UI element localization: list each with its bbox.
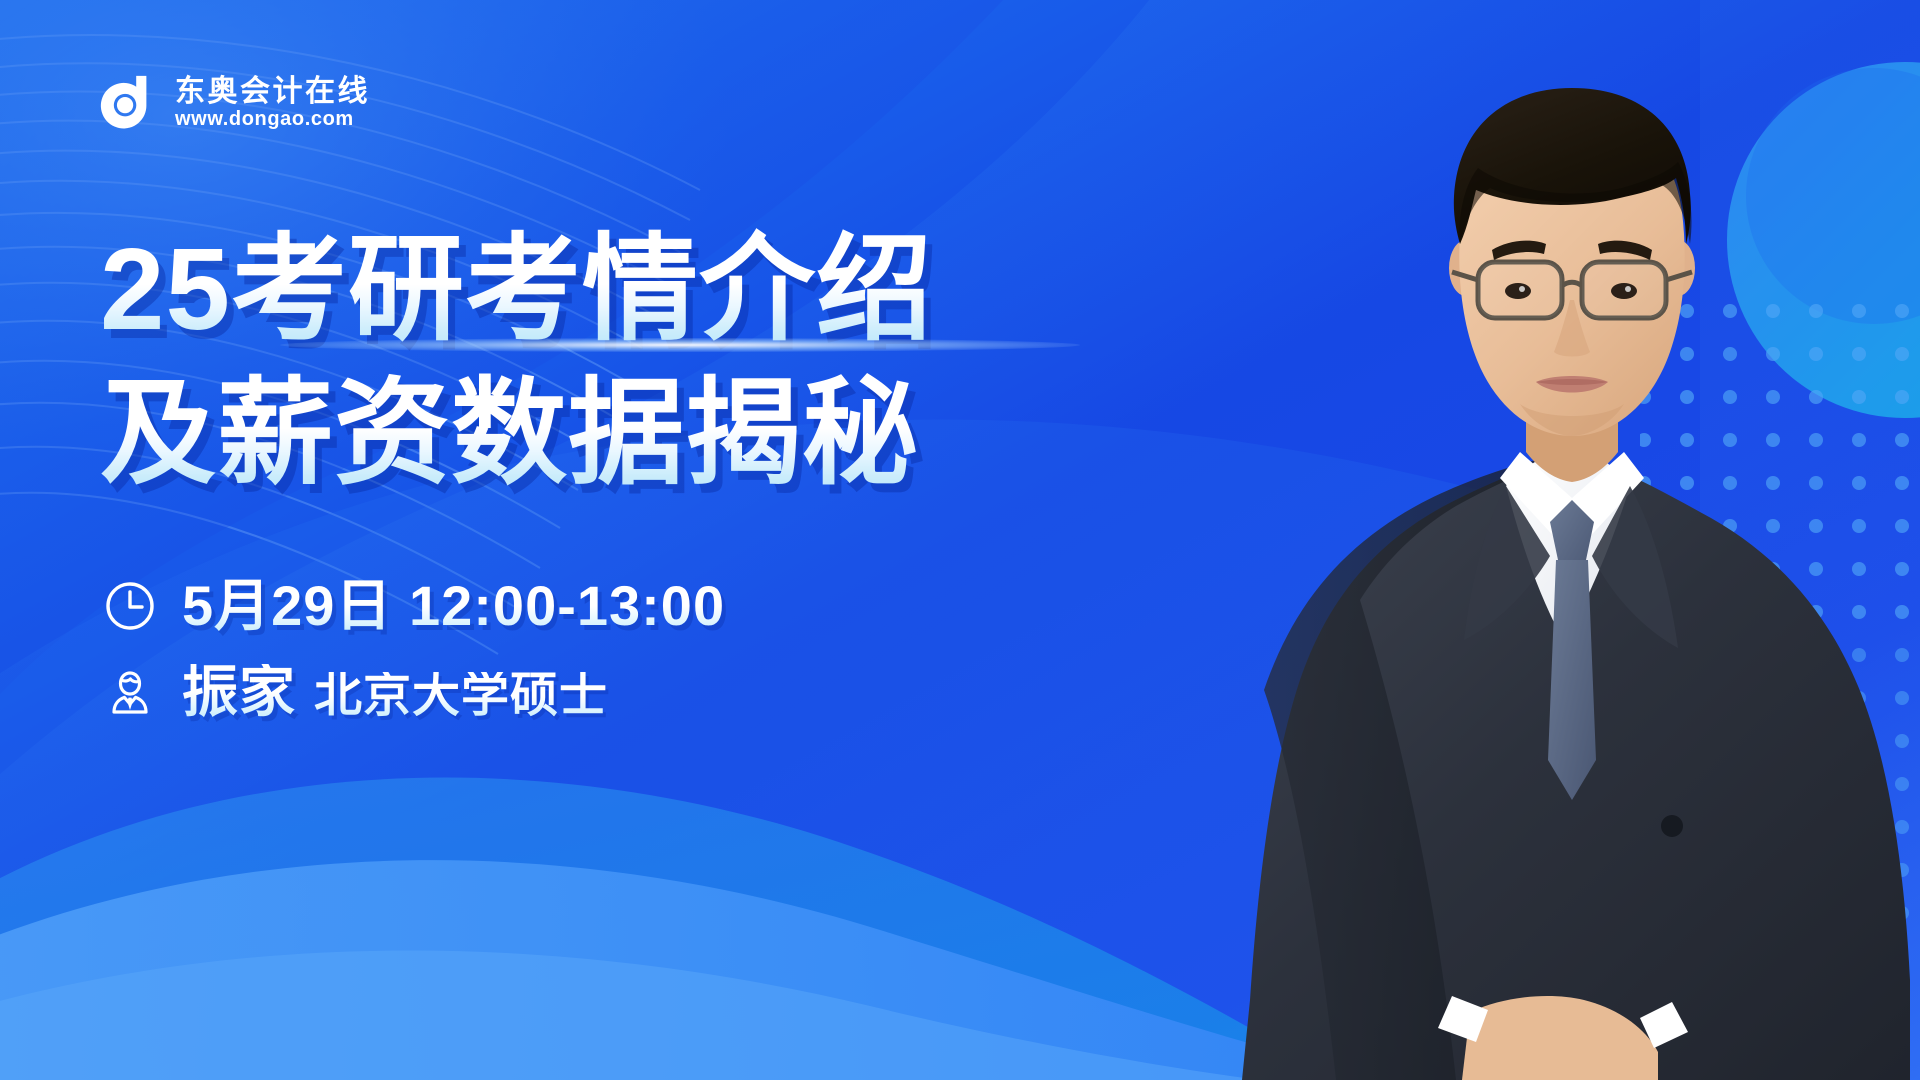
brand-url: www.dongao.com: [175, 109, 370, 129]
schedule-row: 5月29日 12:00-13:00: [104, 578, 725, 634]
webinar-promo-poster: 东奥会计在线 www.dongao.com 25考研考情介绍 及薪资数据揭秘 5…: [0, 0, 1920, 1080]
presenter-icon: [104, 666, 156, 718]
event-details: 5月29日 12:00-13:00 振家 北京大学硕士: [104, 578, 725, 720]
title-line-2: 及薪资数据揭秘: [100, 362, 933, 506]
speaker-names: 振家 北京大学硕士: [182, 664, 608, 720]
speaker-name: 振家: [182, 664, 296, 720]
speaker-credential: 北京大学硕士: [314, 672, 608, 720]
clock-icon: [104, 580, 156, 632]
brand-logo-text: 东奥会计在线 www.dongao.com: [175, 77, 370, 129]
brand-name: 东奥会计在线: [175, 77, 370, 107]
dongao-logo-icon: [96, 72, 158, 134]
brand-logo[interactable]: 东奥会计在线 www.dongao.com: [96, 72, 370, 134]
background-decoration: [0, 0, 1920, 1080]
schedule-text: 5月29日 12:00-13:00: [182, 578, 725, 634]
speaker-row: 振家 北京大学硕士: [104, 664, 725, 720]
page-title: 25考研考情介绍 及薪资数据揭秘: [100, 218, 933, 506]
title-line-1: 25考研考情介绍: [100, 218, 933, 362]
